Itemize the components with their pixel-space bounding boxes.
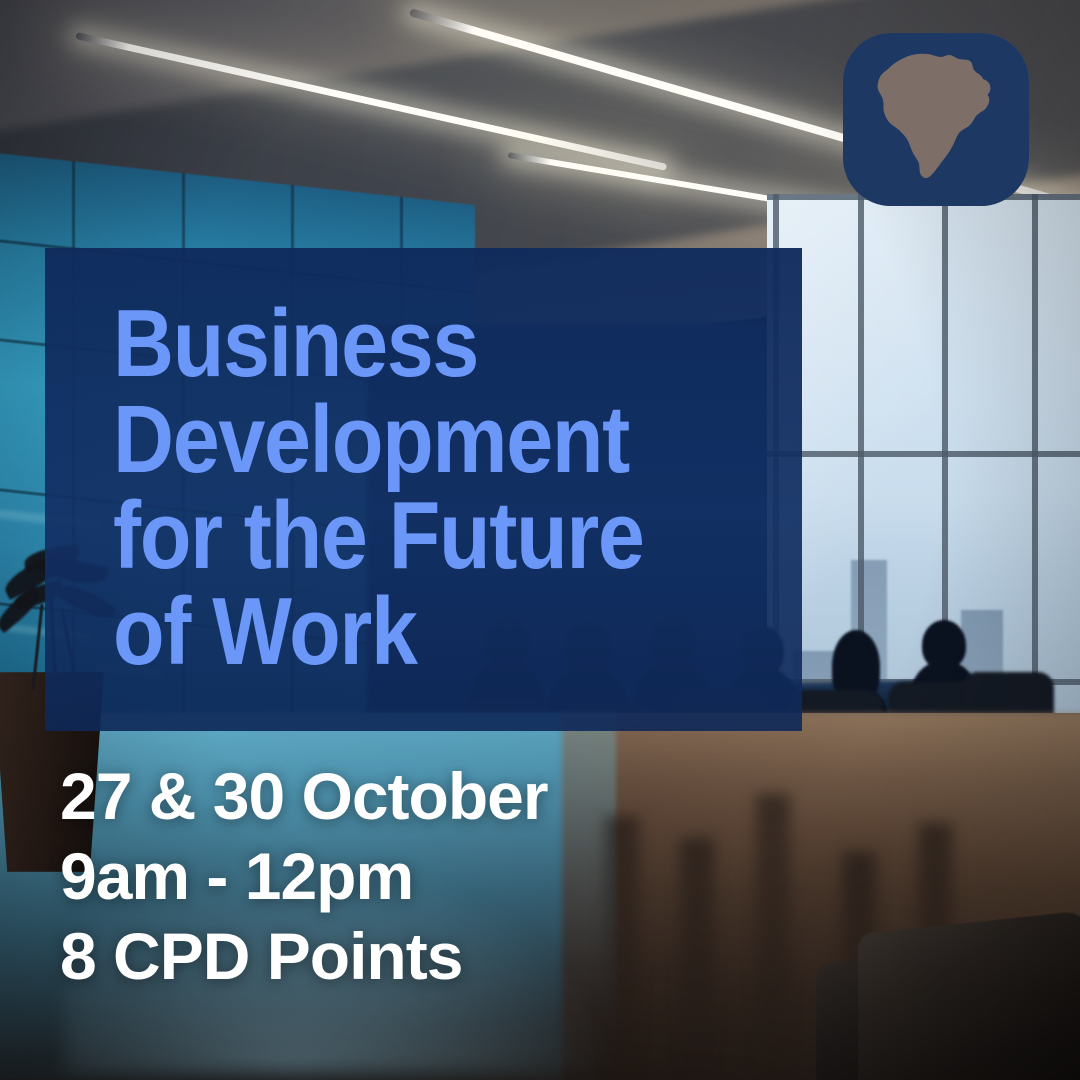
event-details: 27 & 30 October 9am - 12pm 8 CPD Points bbox=[60, 756, 880, 996]
page-title: Business Development for the Future of W… bbox=[113, 296, 729, 680]
dark-sofa bbox=[858, 910, 1080, 1080]
africa-map-logo[interactable] bbox=[843, 33, 1029, 206]
poster-canvas: Business Development for the Future of W… bbox=[0, 0, 1080, 1080]
